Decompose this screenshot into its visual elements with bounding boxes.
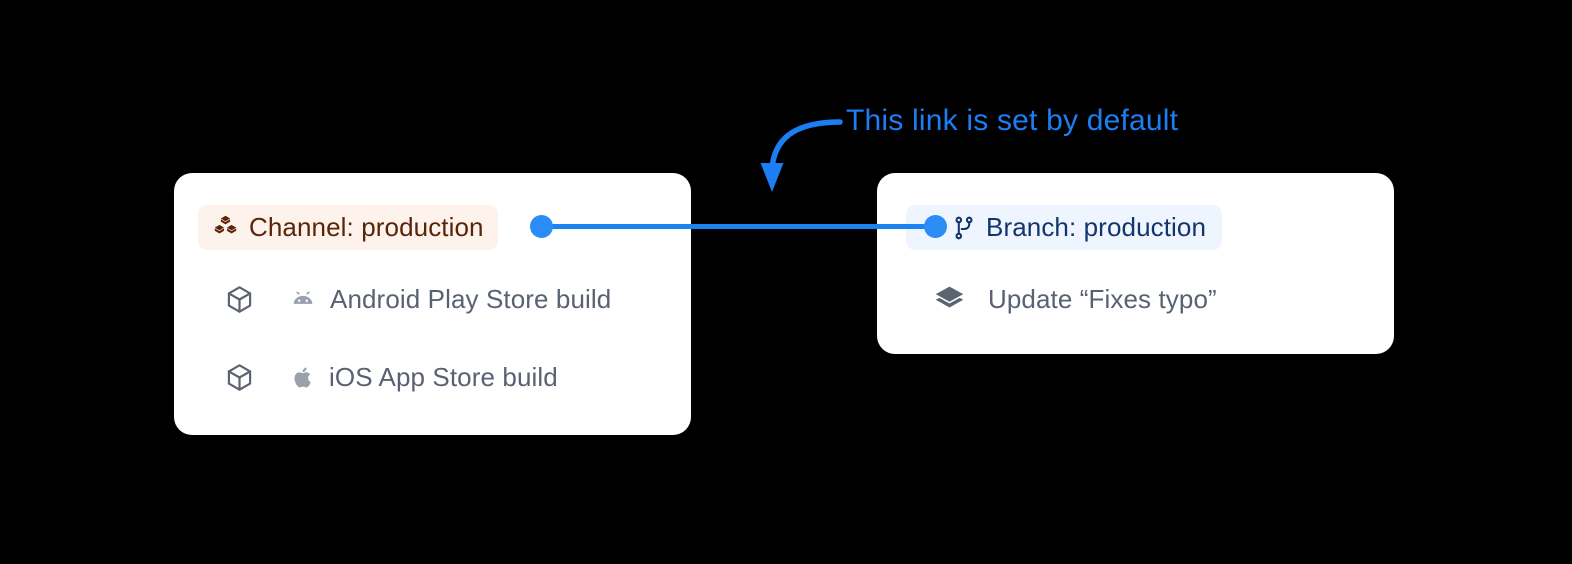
cube-outline-icon (224, 284, 255, 315)
annotation-label: This link is set by default (846, 104, 1178, 138)
branch-header-pill[interactable]: Branch: production (906, 205, 1222, 250)
branch-card: Branch: production Update “Fixes typo” (877, 173, 1394, 354)
branch-header-label: Branch: production (986, 212, 1206, 243)
channel-row-ios-label: iOS App Store build (329, 362, 558, 393)
channel-header-label: Channel: production (249, 212, 484, 243)
branch-row-update-label: Update “Fixes typo” (988, 284, 1217, 315)
channel-row-android-label: Android Play Store build (330, 284, 611, 315)
channel-stacked-cubes-icon (212, 214, 239, 241)
connector-line (541, 224, 935, 229)
branch-row-update[interactable]: Update “Fixes typo” (933, 283, 1217, 315)
cube-outline-icon (224, 362, 255, 393)
apple-icon (289, 364, 316, 391)
channel-row-android[interactable]: Android Play Store build (224, 283, 611, 315)
channel-header-pill[interactable]: Channel: production (198, 205, 498, 250)
diagram-canvas: Channel: production (0, 0, 1572, 564)
channel-card: Channel: production (174, 173, 691, 435)
connector-dot-left[interactable] (530, 215, 553, 238)
connector-dot-right[interactable] (924, 215, 947, 238)
layers-stack-icon (933, 283, 966, 316)
git-branch-icon (951, 215, 977, 241)
android-icon (289, 285, 317, 313)
channel-row-ios[interactable]: iOS App Store build (224, 361, 558, 393)
